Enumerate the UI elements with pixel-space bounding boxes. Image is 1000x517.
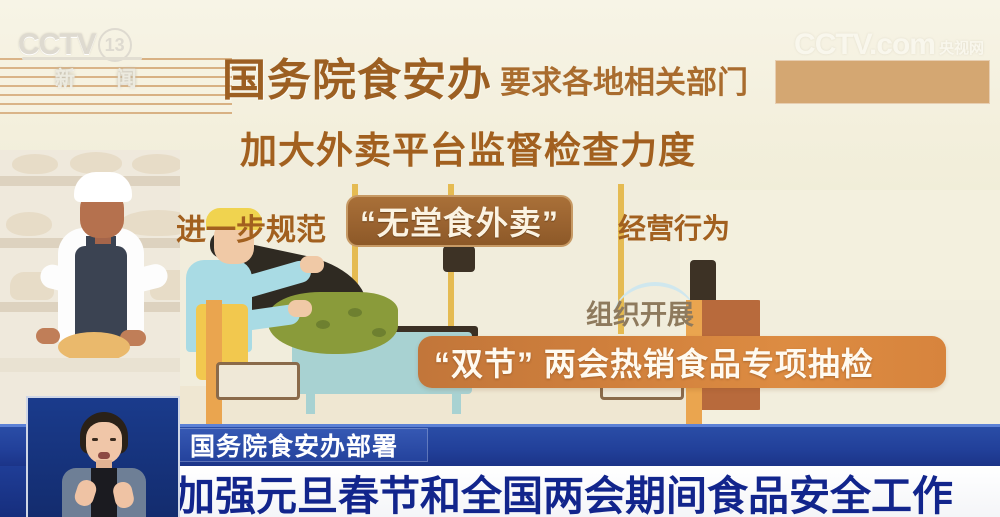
lower-third-title-bar: 加强元旦春节和全国两会期间食品安全工作 (160, 466, 1000, 517)
interpreter-eye-right (110, 438, 116, 441)
headline-line2: 加大外卖平台监督检查力度 (240, 120, 696, 174)
headline-line3-suffix: 经营行为 (618, 207, 730, 247)
leaf (372, 328, 386, 337)
broadcast-screenshot: CCTV 13 新 闻 CCTV.com 央视网 (0, 0, 1000, 517)
leaf (316, 320, 330, 329)
vat-leg (306, 394, 315, 414)
headline-chip-highlight: “无堂食外卖” (346, 195, 573, 247)
headline-banner: “双节” 两会热销食品专项抽检 (418, 336, 946, 388)
worker-hand-upper (300, 256, 324, 273)
interpreter-eye-left (92, 438, 98, 441)
crate (216, 362, 300, 400)
worker-hand-lower (288, 300, 312, 317)
headline-line1-emphasis: 国务院食安办 (222, 44, 492, 108)
baker-apron (75, 246, 127, 346)
leaf (348, 308, 362, 317)
mixer-head (443, 246, 475, 272)
bread-loaf (12, 154, 58, 174)
bread-loaf (6, 212, 52, 236)
decorative-tan-block-edge (775, 60, 990, 104)
illustration (0, 150, 1000, 440)
bread-loaf (70, 152, 122, 174)
channel-logo-underline (22, 57, 142, 60)
channel-number: 13 (100, 30, 130, 60)
bread-loaf (132, 154, 182, 174)
sign-language-interpreter-inset (28, 398, 178, 517)
baker-chef-hat (74, 172, 132, 202)
headline-line3-prefix: 进一步规范 (176, 205, 326, 249)
watermark-cctv-text: CCTV.com (794, 28, 935, 62)
baker-hand-left (36, 328, 60, 344)
lower-third-title-text: 加强元旦春节和全国两会期间食品安全工作 (174, 462, 953, 517)
vat-leg (452, 394, 461, 414)
headline-line4-label: 组织开展 (586, 293, 694, 332)
lower-third-kicker-text: 国务院食安办部署 (190, 427, 398, 463)
watermark: CCTV.com 央视网 (794, 28, 984, 62)
channel-name: 新 闻 (55, 62, 155, 91)
headline-banner-text: “双节” 两会热销食品专项抽检 (434, 339, 874, 385)
headline-chip-text: “无堂食外卖” (360, 198, 559, 244)
headline-line1-rest: 要求各地相关部门 (500, 57, 748, 102)
watermark-cn-text: 央视网 (939, 37, 984, 62)
interpreter-mouth (98, 452, 110, 459)
lower-third-kicker: 国务院食安办部署 (178, 428, 428, 462)
